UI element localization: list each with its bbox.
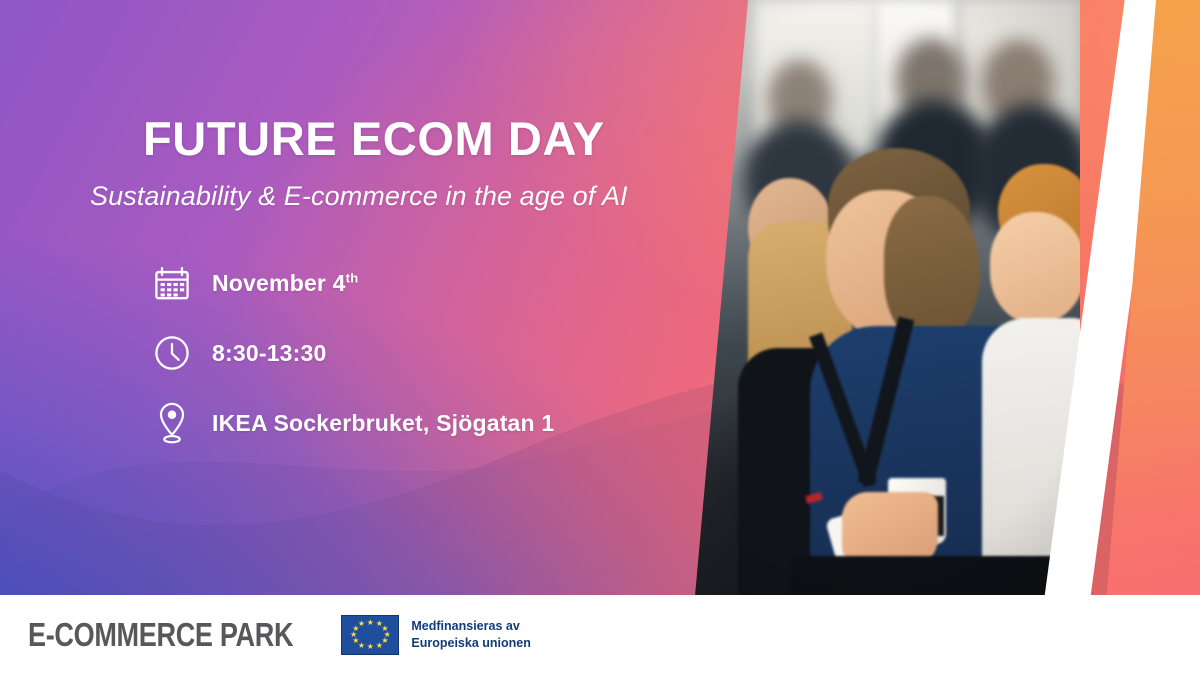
event-subtitle: Sustainability & E-commerce in the age o…: [90, 181, 628, 212]
eu-funding-line-1: Medfinansieras av: [411, 618, 530, 635]
european-union-flag-icon: ★ ★ ★ ★ ★ ★ ★ ★ ★ ★ ★ ★: [341, 615, 399, 655]
eu-funding-notice: ★ ★ ★ ★ ★ ★ ★ ★ ★ ★ ★ ★ Medfinansieras a…: [341, 615, 530, 655]
calendar-icon: [150, 259, 194, 307]
event-detail-date: November 4th: [150, 258, 554, 308]
event-venue-label: IKEA Sockerbruket, Sjögatan 1: [212, 410, 554, 437]
eu-funding-line-2: Europeiska unionen: [411, 635, 530, 652]
event-date-label: November 4th: [212, 270, 358, 297]
eu-funding-text: Medfinansieras av Europeiska unionen: [411, 618, 530, 652]
date-ordinal-suffix: th: [346, 270, 359, 285]
event-details-list: November 4th 8:30-13:30: [150, 258, 554, 448]
brand-logo: E-COMMERCE PARK: [28, 616, 293, 654]
footer-background-right: [660, 595, 1200, 675]
event-info-block: FUTURE ECOM DAY Sustainability & E-comme…: [0, 0, 700, 595]
event-detail-time: 8:30-13:30: [150, 328, 554, 378]
event-banner: FUTURE ECOM DAY Sustainability & E-comme…: [0, 0, 1200, 675]
location-pin-icon: [150, 399, 194, 447]
page-title: FUTURE ECOM DAY: [143, 111, 605, 166]
event-time-label: 8:30-13:30: [212, 340, 327, 367]
event-detail-venue: IKEA Sockerbruket, Sjögatan 1: [150, 398, 554, 448]
clock-icon: [150, 329, 194, 377]
